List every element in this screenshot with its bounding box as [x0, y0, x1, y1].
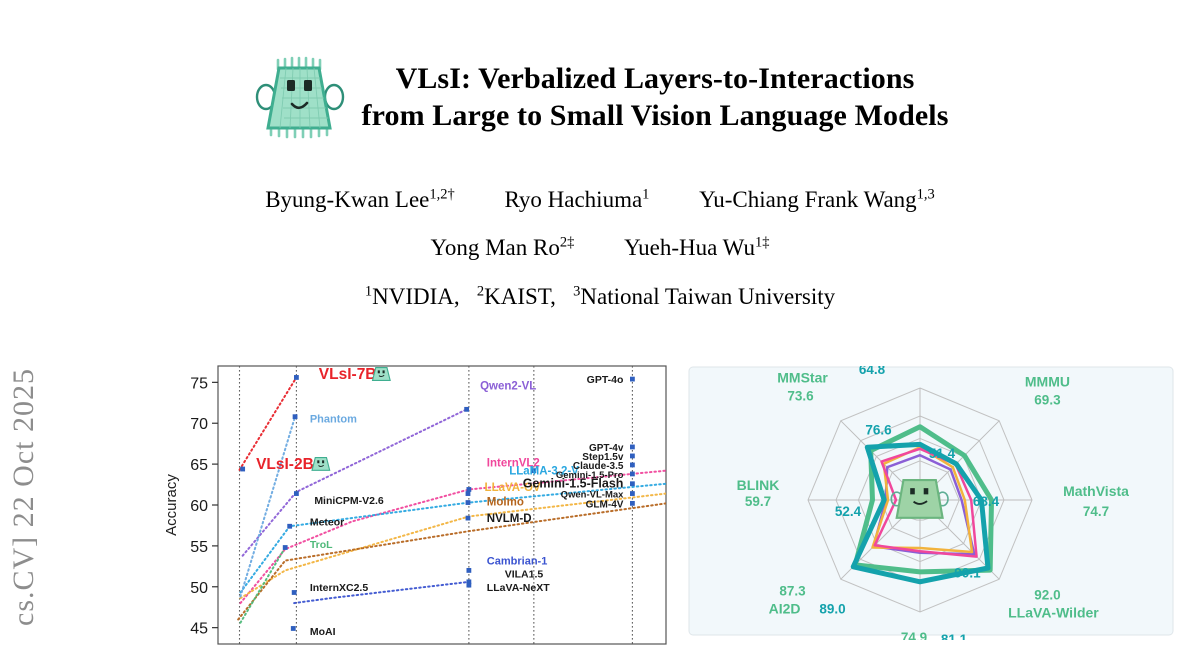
- scatter-point-label: InternXC2.5: [310, 582, 369, 594]
- scatter-point-label: GLM-4V: [586, 499, 624, 510]
- scatter-point[interactable]: [630, 463, 635, 468]
- scatter-point[interactable]: [240, 467, 245, 472]
- scatter-point-label: VLsI-7B: [319, 366, 377, 383]
- scatter-point[interactable]: [630, 491, 635, 496]
- scatter-point[interactable]: [630, 445, 635, 450]
- scatter-point-label: MoAI: [310, 626, 336, 638]
- scatter-point[interactable]: [287, 524, 292, 529]
- author-name: Ryo Hachiuma: [504, 187, 642, 212]
- scatter-point[interactable]: [630, 472, 635, 477]
- scatter-point-label: LLaVA-NeXT: [487, 582, 550, 594]
- scatter-point[interactable]: [283, 545, 288, 550]
- scatter-point[interactable]: [630, 377, 635, 382]
- scatter-point[interactable]: [466, 487, 471, 492]
- y-axis-tick-label: 45: [190, 621, 208, 638]
- author-entry: Yueh-Hua Wu1‡: [624, 235, 769, 260]
- scatter-point[interactable]: [464, 407, 469, 412]
- author-entry: Yong Man Ro2‡: [431, 235, 575, 260]
- author-name: Byung-Kwan Lee: [265, 187, 429, 212]
- author-affiliation-marker: 1,3: [917, 186, 935, 202]
- affiliation-entry: 3National Taiwan University: [573, 284, 835, 309]
- scatter-point-label: Phantom: [310, 413, 357, 425]
- paper-title-line-1: VLsI: Verbalized Layers-to-Interactions: [362, 61, 949, 98]
- chip-mascot-icon: [373, 368, 391, 381]
- scatter-point[interactable]: [466, 568, 471, 573]
- radar-value-label-7b: 74.9: [901, 630, 927, 640]
- affiliation-name: NVIDIA,: [372, 284, 460, 309]
- scatter-point[interactable]: [466, 491, 471, 496]
- radar-value-label-7b: 69.3: [1034, 393, 1061, 408]
- paper-title-line-2: from Large to Small Vision Language Mode…: [362, 98, 949, 135]
- radar-value-label-7b: 74.7: [1083, 504, 1109, 519]
- scatter-point[interactable]: [294, 491, 299, 496]
- radar-value-label-2b: 52.4: [835, 504, 862, 519]
- radar-value-label-7b: 92.0: [1034, 587, 1060, 602]
- radar-chart-figure: MM-Vet75.864.8MMMU69.3MathVista74.768.4L…: [688, 366, 1188, 640]
- scatter-point[interactable]: [294, 375, 299, 380]
- author-affiliation-marker: 1‡: [755, 235, 769, 251]
- scatter-point[interactable]: [466, 583, 471, 588]
- paper-header: VLsI: Verbalized Layers-to-Interactions …: [0, 0, 1200, 310]
- y-axis-tick-label: 50: [190, 580, 208, 597]
- affiliation-name: National Taiwan University: [580, 284, 835, 309]
- author-entry: Yu-Chiang Frank Wang1,3: [699, 187, 935, 212]
- scatter-point[interactable]: [293, 414, 298, 419]
- radar-value-label-2b: 81.1: [941, 632, 968, 640]
- y-axis-tick-label: 65: [190, 457, 208, 474]
- scatter-point-label: Qwen2-VL: [480, 381, 536, 393]
- scatter-point[interactable]: [630, 481, 635, 486]
- radar-axis-label: AI2D: [769, 600, 801, 616]
- author-affiliation-marker: 1: [642, 186, 649, 202]
- scatter-point-label: VLsI-2B: [256, 456, 314, 473]
- scatter-plot-figure: 45505560657075AccuracyVLsI-7BPhantomVLsI…: [160, 362, 672, 648]
- author-list: Byung-Kwan Lee1,2† Ryo Hachiuma1 Yu-Chia…: [0, 186, 1200, 310]
- radar-value-label-7b: 73.6: [787, 389, 814, 404]
- radar-value-label-2b: 89.0: [819, 601, 845, 616]
- scatter-point[interactable]: [466, 516, 471, 521]
- affiliation-entry: 1NVIDIA,: [365, 284, 460, 309]
- y-axis-tick-label: 70: [190, 416, 208, 433]
- radar-axis-label: LLaVA-Wilder: [1008, 604, 1099, 620]
- radar-value-label-2b: 68.4: [973, 494, 1000, 509]
- scatter-point[interactable]: [630, 501, 635, 506]
- radar-axis-label: MathVista: [1063, 483, 1129, 499]
- paper-title: VLsI: Verbalized Layers-to-Interactions …: [362, 61, 949, 134]
- radar-value-label-2b: 64.8: [859, 366, 886, 377]
- author-row-2: Yong Man Ro2‡ Yueh-Hua Wu1‡: [0, 235, 1200, 262]
- y-axis-tick-label: 75: [190, 375, 208, 392]
- scatter-point[interactable]: [466, 500, 471, 505]
- author-entry: Ryo Hachiuma1: [504, 187, 649, 212]
- chip-mascot-icon: [312, 458, 330, 471]
- radar-axis-label: BLINK: [737, 477, 780, 493]
- y-axis-title: Accuracy: [163, 474, 180, 536]
- scatter-point-label: VILA1.5: [505, 569, 544, 581]
- scatter-point-label: Cambrian-1: [487, 556, 548, 568]
- scatter-point-label: GPT-4o: [587, 374, 624, 386]
- author-affiliation-marker: 2‡: [560, 235, 574, 251]
- title-row: VLsI: Verbalized Layers-to-Interactions …: [0, 52, 1200, 144]
- author-name: Yu-Chiang Frank Wang: [699, 187, 916, 212]
- radar-value-label-2b: 90.1: [954, 565, 981, 580]
- radar-inner-value-label: 51.4: [929, 446, 956, 461]
- radar-axis-label: MMMU: [1025, 374, 1070, 390]
- affiliation-line: 1NVIDIA, 2KAIST, 3National Taiwan Univer…: [0, 283, 1200, 310]
- author-row-1: Byung-Kwan Lee1,2† Ryo Hachiuma1 Yu-Chia…: [0, 186, 1200, 213]
- scatter-point[interactable]: [292, 590, 297, 595]
- scatter-point-label: Meteor: [310, 516, 344, 528]
- scatter-point-label: TroL: [310, 539, 333, 551]
- radar-value-label-2b: 76.6: [865, 423, 892, 438]
- radar-axis-label: MMStar: [777, 370, 828, 386]
- affiliation-entry: 2KAIST,: [477, 284, 556, 309]
- radar-value-label-7b: 59.7: [745, 494, 771, 509]
- scatter-point[interactable]: [630, 454, 635, 459]
- radar-value-label-7b: 87.3: [779, 583, 806, 598]
- author-affiliation-marker: 1,2†: [429, 186, 454, 202]
- chip-mascot-icon: [252, 52, 348, 144]
- author-name: Yueh-Hua Wu: [624, 235, 755, 260]
- scatter-point-label: NVLM-D: [487, 513, 532, 525]
- y-axis-tick-label: 60: [190, 498, 208, 515]
- figures-region: 45505560657075AccuracyVLsI-7BPhantomVLsI…: [0, 362, 1200, 648]
- y-axis-tick-label: 55: [190, 539, 208, 556]
- author-name: Yong Man Ro: [431, 235, 560, 260]
- affiliation-name: KAIST,: [484, 284, 556, 309]
- scatter-point[interactable]: [291, 626, 296, 631]
- scatter-point-label: MiniCPM-V2.6: [314, 495, 384, 507]
- scatter-point-label: Molmo: [487, 497, 524, 509]
- author-entry: Byung-Kwan Lee1,2†: [265, 187, 455, 212]
